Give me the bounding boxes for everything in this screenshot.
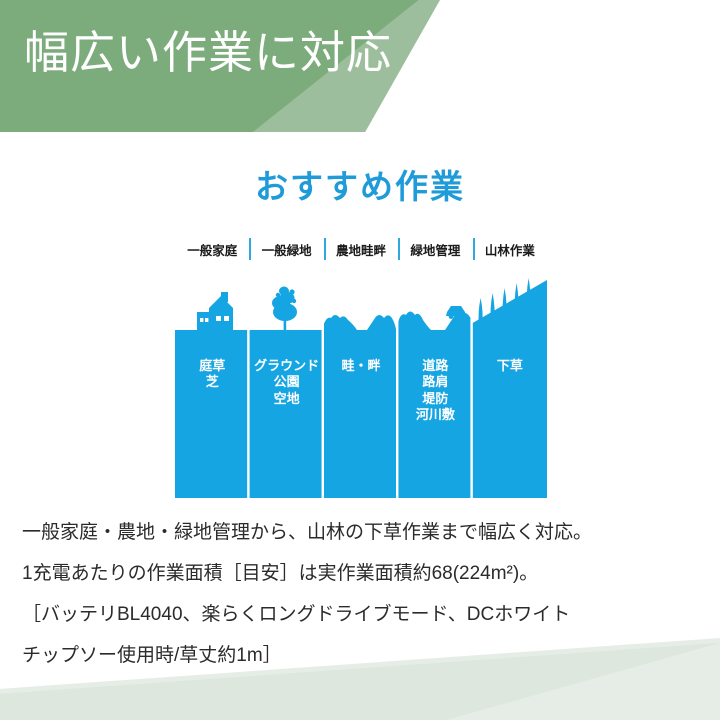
column-label-text: 畦・畔 (324, 358, 398, 374)
category-header-general-greenspace: 一般緑地 (249, 240, 323, 268)
column-label-general-household: 庭草 芝 (175, 268, 249, 498)
recommended-work-diagram: おすすめ作業 一般家庭 一般緑地 農地畦畔 緑地管理 山林作業 (0, 140, 720, 510)
category-header-label: 緑地管理 (410, 244, 460, 258)
column-label-general-greenspace: グラウンド 公園 空地 (249, 268, 323, 498)
category-header-label: 一般家庭 (187, 244, 237, 258)
column-label-farmland-ridge: 畦・畔 (324, 268, 398, 498)
column-label-forest-work: 下草 (473, 268, 547, 498)
category-header-label: 一般緑地 (262, 244, 312, 258)
column-label-text: グラウンド 公園 空地 (249, 358, 323, 407)
category-header-row: 一般家庭 一般緑地 農地畦畔 緑地管理 山林作業 (175, 240, 547, 268)
column-label-text: 下草 (473, 358, 547, 374)
description-text-block: 一般家庭・農地・緑地管理から、山林の下草作業まで幅広く対応。 1充電あたりの作業… (22, 512, 702, 676)
column-label-row: 庭草 芝 グラウンド 公園 空地 畦・畔 道路 路肩 堤防 河川敷 下草 (175, 268, 547, 498)
description-line-1: 一般家庭・農地・緑地管理から、山林の下草作業まで幅広く対応。 (22, 512, 702, 553)
page-title: 幅広い作業に対応 (24, 30, 392, 75)
category-header-farmland-ridge: 農地畦畔 (324, 240, 398, 268)
description-line-4: チップソー使用時/草丈約1m］ (22, 635, 702, 676)
chart-illustration-area: 庭草 芝 グラウンド 公園 空地 畦・畔 道路 路肩 堤防 河川敷 下草 (175, 268, 547, 498)
category-header-forest-work: 山林作業 (473, 240, 547, 268)
category-header-greenspace-management: 緑地管理 (398, 240, 472, 268)
column-label-greenspace-management: 道路 路肩 堤防 河川敷 (398, 268, 472, 498)
category-header-label: 山林作業 (485, 244, 535, 258)
description-line-3: ［バッテリBL4040、楽らくロングドライブモード、DCホワイト (22, 594, 702, 635)
category-header-general-household: 一般家庭 (175, 240, 249, 268)
description-line-2: 1充電あたりの作業面積［目安］は実作業面積約68(224m²)。 (22, 553, 702, 594)
column-label-text: 庭草 芝 (175, 358, 249, 391)
column-label-text: 道路 路肩 堤防 河川敷 (398, 358, 472, 423)
category-header-label: 農地畦畔 (336, 244, 386, 258)
work-categories-chart: 一般家庭 一般緑地 農地畦畔 緑地管理 山林作業 (175, 240, 547, 498)
diagram-title: おすすめ作業 (0, 160, 720, 208)
header-banner: 幅広い作業に対応 (0, 0, 720, 132)
